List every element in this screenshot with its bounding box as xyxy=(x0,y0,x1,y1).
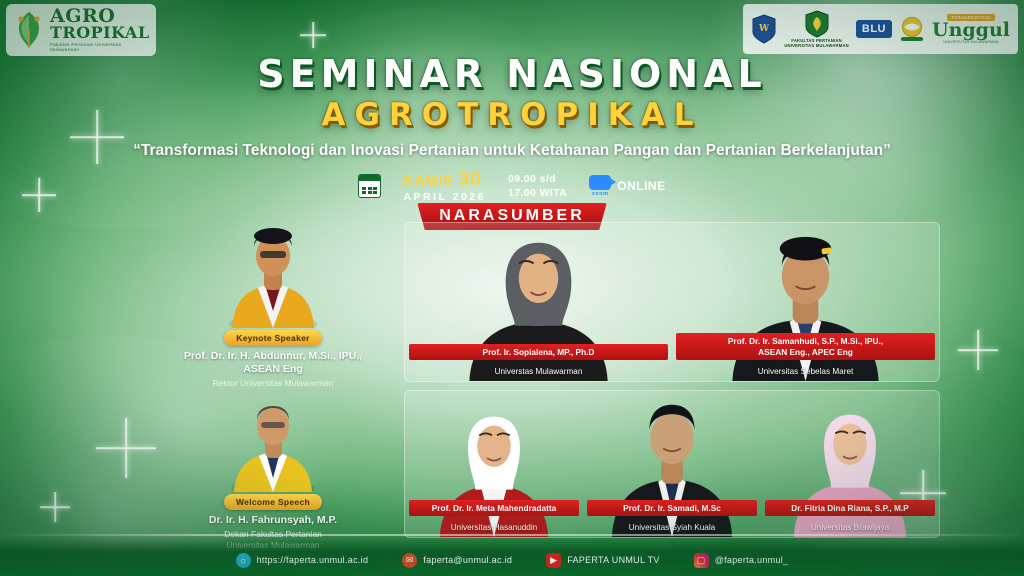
event-time-line1: 09.00 s/d xyxy=(508,172,567,186)
globe-icon: ☼ xyxy=(236,553,251,568)
institution-logo-strip: W FAKULTAS PERTANIANUNIVERSITAS MULAWARM… xyxy=(743,4,1018,54)
welcome-portrait xyxy=(214,392,332,492)
youtube-icon: ▶ xyxy=(546,553,561,568)
speaker-affiliation: Universitas Syiah Kuala xyxy=(587,523,757,532)
agrotropikal-logo: AGRO TROPIKAL Fakultas Pertanian Univers… xyxy=(6,4,156,56)
event-time-line2: 17.00 WITA xyxy=(508,186,567,200)
kampus-merdeka-icon xyxy=(899,16,925,42)
speaker-card: Prof. Dr. Ir. Samanhudi, S.P., M.Si., IP… xyxy=(672,223,939,381)
keynote-name: Prof. Dr. Ir. H. Abdunnur, M.Si., IPU.,A… xyxy=(168,350,378,376)
speaker-name-tag: Prof. Ir. Sopialena, MP., Ph.D xyxy=(409,344,668,360)
leaf-icon xyxy=(12,10,46,50)
footer-instagram-label: @faperta.unmul_ xyxy=(715,555,789,565)
keynote-portrait xyxy=(214,216,332,328)
speakers-panel-bottom: Prof. Dr. Ir. Meta Mahendradatta Univers… xyxy=(404,390,940,538)
footer-youtube-label: FAPERTA UNMUL TV xyxy=(567,555,660,565)
mode-label: ONLINE xyxy=(617,179,665,193)
footer-website-label: https://faperta.unmul.ac.id xyxy=(257,555,369,565)
speaker-name-tag: Prof. Dr. Ir. Meta Mahendradatta xyxy=(409,500,579,516)
unmul-seal-icon: W xyxy=(751,14,777,44)
footer-bar: ☼ https://faperta.unmul.ac.id ✉ faperta@… xyxy=(0,536,1024,576)
speaker-name-tag: Prof. Dr. Ir. Samanhudi, S.P., M.Si., IP… xyxy=(676,333,935,360)
footer-youtube[interactable]: ▶ FAPERTA UNMUL TV xyxy=(546,553,660,568)
welcome-badge: Welcome Speech xyxy=(224,494,322,510)
zoom-label: zoom xyxy=(592,191,609,197)
sparkle-icon xyxy=(40,492,70,522)
keynote-speaker-block: Keynote Speaker Prof. Dr. Ir. H. Abdunnu… xyxy=(168,216,378,389)
speaker-name-tag: Dr. Fitria Dina Riana, S.P., M.P xyxy=(765,500,935,516)
mail-icon: ✉ xyxy=(402,553,417,568)
faperta-seal-caption: FAKULTAS PERTANIANUNIVERSITAS MULAWARMAN xyxy=(784,39,849,49)
tagline: “Transformasi Teknologi dan Inovasi Pert… xyxy=(0,142,1024,160)
sparkle-icon xyxy=(300,22,326,48)
faperta-seal-icon: FAKULTAS PERTANIANUNIVERSITAS MULAWARMAN xyxy=(784,10,849,49)
welcome-speech-block: Welcome Speech Dr. Ir. H. Fahrunsyah, M.… xyxy=(168,392,378,550)
page-title: SEMINAR NASIONAL xyxy=(0,52,1024,96)
page-subtitle: AGROTROPIKAL xyxy=(0,97,1024,133)
poster-canvas: AGRO TROPIKAL Fakultas Pertanian Univers… xyxy=(0,0,1024,576)
blu-badge-icon: BLU xyxy=(856,20,892,38)
footer-website[interactable]: ☼ https://faperta.unmul.ac.id xyxy=(236,553,369,568)
speaker-card: Prof. Dr. Ir. Meta Mahendradatta Univers… xyxy=(405,391,583,537)
event-mode: zoom ONLINE xyxy=(589,175,665,197)
footer-email-label: faperta@unmul.ac.id xyxy=(423,555,512,565)
speaker-affiliation: Universtas Mulawarman xyxy=(409,367,668,376)
event-day-number: 30 xyxy=(458,169,481,190)
event-day-name: KAMIS xyxy=(403,172,453,188)
speaker-name-tag: Prof. Dr. Ir. Samadi, M.Sc xyxy=(587,500,757,516)
event-info-row: KAMIS 30 APRIL 2026 09.00 s/d 17.00 WITA… xyxy=(0,170,1024,203)
speaker-affiliation: Universitas Hasanuddin xyxy=(409,523,579,532)
footer-email[interactable]: ✉ faperta@unmul.ac.id xyxy=(402,553,512,568)
event-date: KAMIS 30 APRIL 2026 xyxy=(403,170,486,203)
svg-text:W: W xyxy=(758,24,770,34)
zoom-icon: zoom xyxy=(589,175,611,197)
speaker-affiliation: Universitas Sebelas Maret xyxy=(676,367,935,376)
event-time: 09.00 s/d 17.00 WITA xyxy=(508,172,567,200)
speaker-card: Dr. Fitria Dina Riana, S.P., M.P Univers… xyxy=(761,391,939,537)
speaker-card: Prof. Dr. Ir. Samadi, M.Sc Universitas S… xyxy=(583,391,761,537)
speaker-affiliation: Universitas Brawijaya xyxy=(765,523,935,532)
keynote-badge: Keynote Speaker xyxy=(224,330,321,346)
calendar-icon xyxy=(358,174,381,198)
logo-title-line2: TROPIKAL xyxy=(50,25,150,41)
sparkle-icon xyxy=(958,330,998,370)
unggul-wordmark-icon: TERAKREDITASI Unggul UNIVERSITAS MULAWAR… xyxy=(932,14,1010,44)
speaker-card: Prof. Ir. Sopialena, MP., Ph.D Universta… xyxy=(405,223,672,381)
speakers-panel-top: Prof. Ir. Sopialena, MP., Ph.D Universta… xyxy=(404,222,940,382)
welcome-name: Dr. Ir. H. Fahrunsyah, M.P. xyxy=(168,514,378,527)
instagram-icon: ▢ xyxy=(694,553,709,568)
sparkle-icon xyxy=(96,418,156,478)
event-month-year: APRIL 2026 xyxy=(403,192,486,203)
keynote-role: Rektor Universitas Mulawarman xyxy=(168,378,378,389)
footer-instagram[interactable]: ▢ @faperta.unmul_ xyxy=(694,553,789,568)
